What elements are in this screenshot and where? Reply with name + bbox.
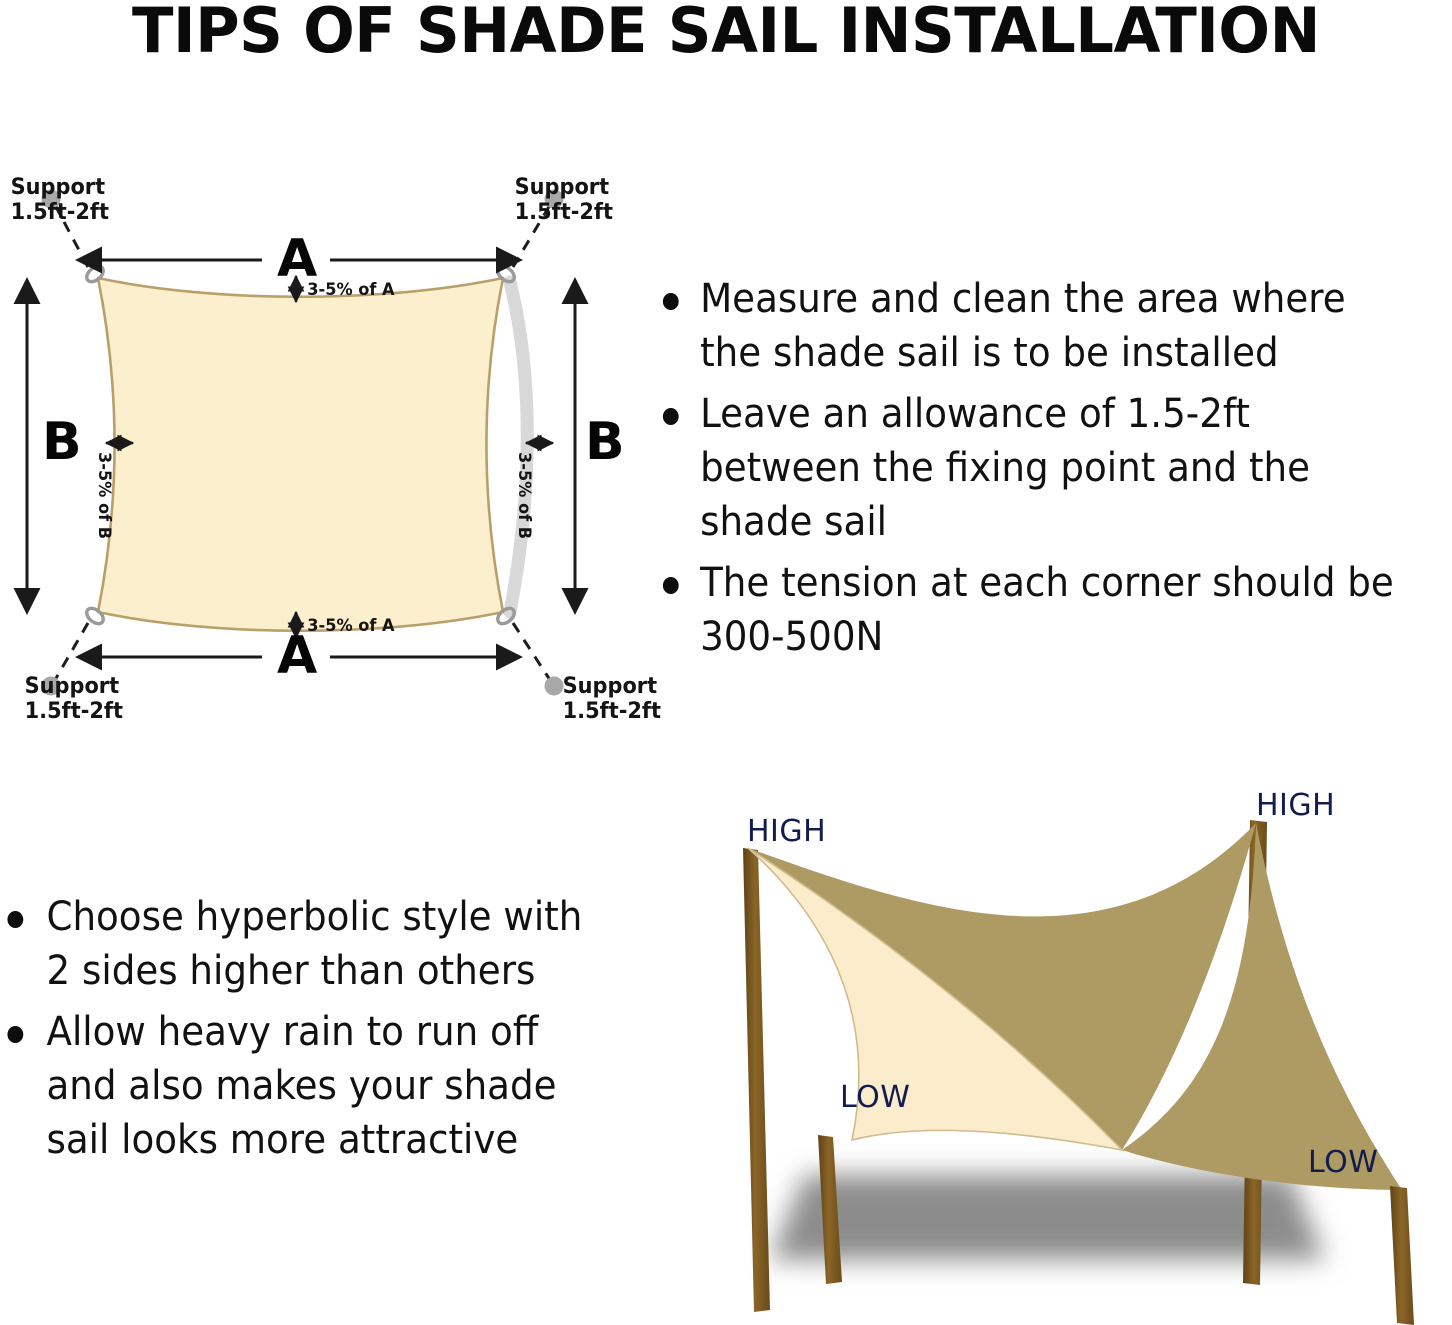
shade-sail-shape [98, 278, 503, 631]
dimension-letter-left-B: B [42, 416, 82, 468]
list-item: Leave an allowance of 1.5-2ft between th… [648, 387, 1396, 549]
post-front-right-low [1390, 1186, 1414, 1325]
support-label-line1: Support [515, 175, 610, 200]
support-label-bottom-left: Support 1.5ft-2ft [25, 675, 123, 724]
top-bullet-list-container: Measure and clean the area where the sha… [648, 272, 1452, 671]
support-label-top-right: Support 1.5ft-2ft [515, 176, 613, 225]
list-item: Choose hyperbolic style with 2 sides hig… [0, 890, 595, 998]
rect-sail-svg [0, 160, 660, 740]
label-low-left: LOW [840, 1080, 910, 1115]
bottom-diagram-hyperbolic-sail: HIGH HIGH LOW LOW [690, 790, 1452, 1325]
support-label-line1: Support [11, 175, 106, 200]
top-bullet-list: Measure and clean the area where the sha… [648, 272, 1452, 664]
label-high-left: HIGH [747, 814, 826, 849]
support-label-line2: 1.5ft-2ft [515, 200, 613, 225]
curvature-label-top: 3-5% of A [307, 280, 394, 300]
page-title: TIPS OF SHADE SAIL INSTALLATION [15, 0, 1438, 67]
support-label-top-left: Support 1.5ft-2ft [11, 176, 109, 225]
support-label-line2: 1.5ft-2ft [25, 699, 123, 724]
dimension-letter-top-A: A [277, 233, 317, 285]
curvature-label-left: 3-5% of B [94, 452, 114, 539]
label-high-right: HIGH [1256, 788, 1335, 823]
support-label-line2: 1.5ft-2ft [563, 699, 661, 724]
label-low-right: LOW [1308, 1145, 1378, 1180]
support-label-bottom-right: Support 1.5ft-2ft [563, 675, 661, 724]
support-label-line2: 1.5ft-2ft [11, 200, 109, 225]
list-item: The tension at each corner should be 300… [648, 556, 1396, 664]
top-diagram-rectangular-sail: Support 1.5ft-2ft Support 1.5ft-2ft Supp… [0, 160, 660, 740]
dimension-letter-right-B: B [585, 416, 625, 468]
ground-shadow [770, 1175, 1325, 1260]
list-item: Allow heavy rain to run off and also mak… [0, 1005, 595, 1167]
bottom-bullet-list: Choose hyperbolic style with 2 sides hig… [0, 890, 640, 1167]
curvature-label-right: 3-5% of B [514, 452, 534, 539]
support-label-line1: Support [563, 674, 658, 699]
dimension-letter-bottom-A: A [277, 630, 317, 682]
list-item: Measure and clean the area where the sha… [648, 272, 1396, 380]
bottom-bullet-list-container: Choose hyperbolic style with 2 sides hig… [0, 890, 640, 1174]
hyperbolic-sail-svg [690, 790, 1452, 1325]
curvature-label-bottom: 3-5% of A [307, 616, 394, 636]
support-label-line1: Support [25, 674, 120, 699]
post-back-left [743, 848, 770, 1312]
